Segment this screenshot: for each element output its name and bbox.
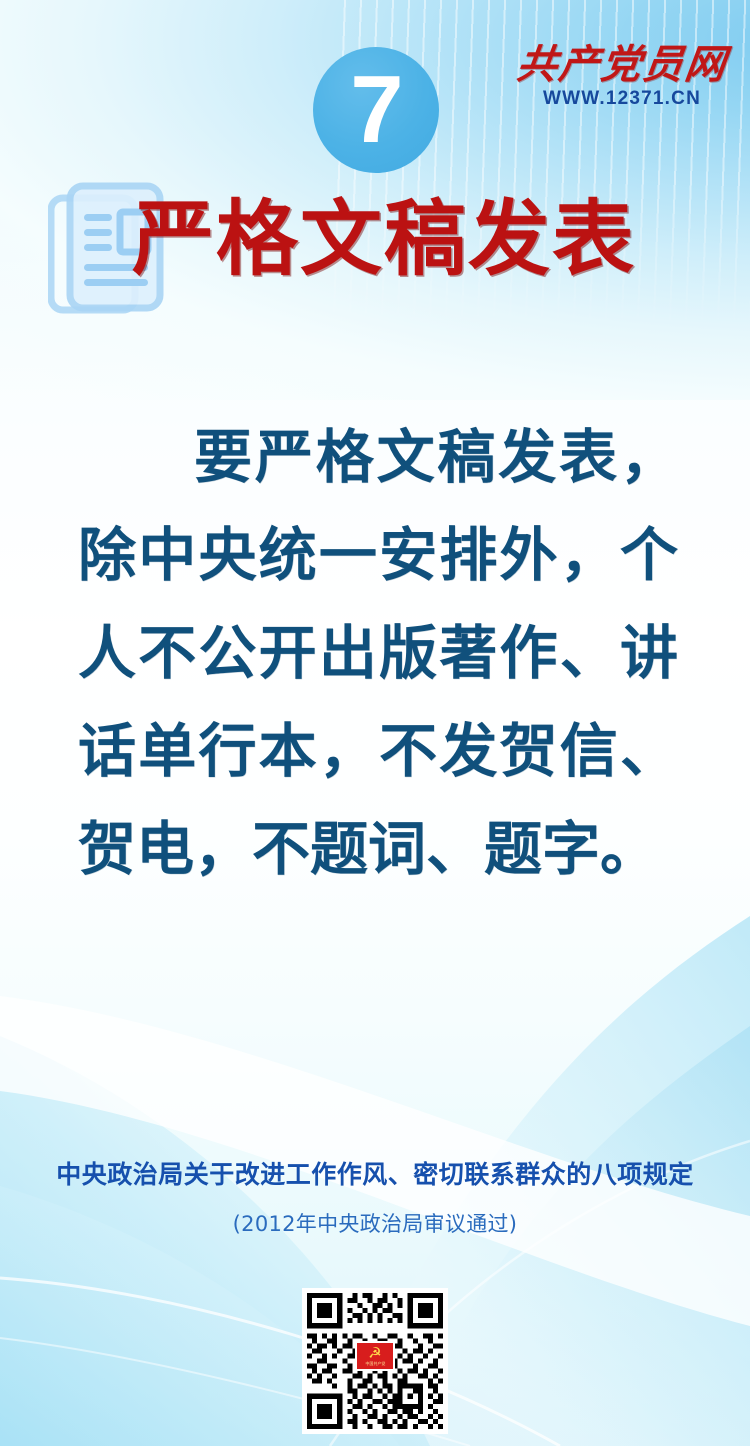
site-logo-url: WWW.12371.CN [516, 88, 728, 110]
regulation-adoption-note: (2012年中央政治局审议通过) [0, 1208, 750, 1238]
party-emblem-icon: ☭ 中国共产党 [355, 1341, 395, 1371]
qr-code[interactable]: ☭ 中国共产党 [302, 1288, 448, 1434]
party-emblem-label: 中国共产党 [365, 1361, 385, 1366]
site-logo[interactable]: 共产党员网 WWW.12371.CN [516, 44, 728, 110]
regulation-title: 中央政治局关于改进工作作风、密切联系群众的八项规定 [0, 1155, 750, 1191]
item-number-badge: 7 [313, 47, 439, 173]
title-block: 严格文稿发表 [0, 185, 750, 325]
poster-root: 7 共产党员网 WWW.12371.CN 严格文稿发表 [0, 0, 750, 1446]
site-logo-name: 共产党员网 [513, 44, 730, 86]
page-title: 严格文稿发表 [132, 199, 636, 281]
body-paragraph: 要严格文稿发表，除中央统一安排外，个人不公开出版著作、讲话单行本，不发贺信、贺电… [78, 408, 678, 898]
hammer-sickle-icon: ☭ [368, 1346, 381, 1361]
